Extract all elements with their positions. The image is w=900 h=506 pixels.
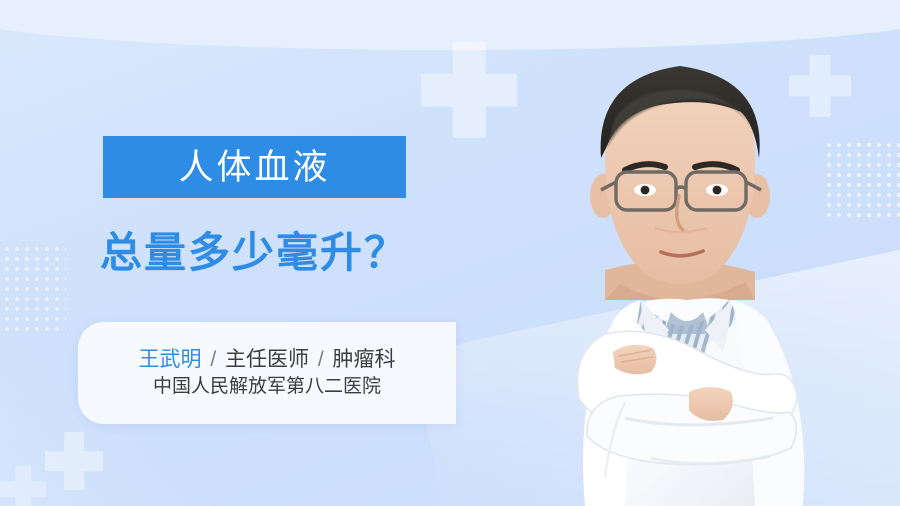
doctor-credentials-line: 王武明 / 主任医师 / 肿瘤科 (138, 347, 395, 372)
doctor-name: 王武明 (138, 348, 201, 371)
dot-grid-icon (0, 244, 66, 334)
doctor-title: 主任医师 (225, 348, 309, 371)
medical-cross-icon (0, 466, 46, 506)
doctor-hospital: 中国人民解放军第八二医院 (153, 376, 381, 399)
doctor-info-card: 王武明 / 主任医师 / 肿瘤科 中国人民解放军第八二医院 (78, 322, 456, 424)
video-thumbnail: 人体血液 总量多少毫升？ 王武明 / 主任医师 / 肿瘤科 中国人民解放军第八二… (0, 0, 900, 506)
doctor-portrait (455, 0, 900, 506)
doctor-department: 肿瘤科 (333, 348, 396, 371)
credential-separator: / (315, 348, 327, 371)
credential-separator: / (207, 348, 219, 371)
headline-banner: 人体血液 (103, 136, 406, 198)
headline-banner-text: 人体血液 (178, 150, 330, 185)
medical-cross-icon (45, 432, 103, 490)
headline-subtitle: 总量多少毫升？ (100, 232, 408, 274)
